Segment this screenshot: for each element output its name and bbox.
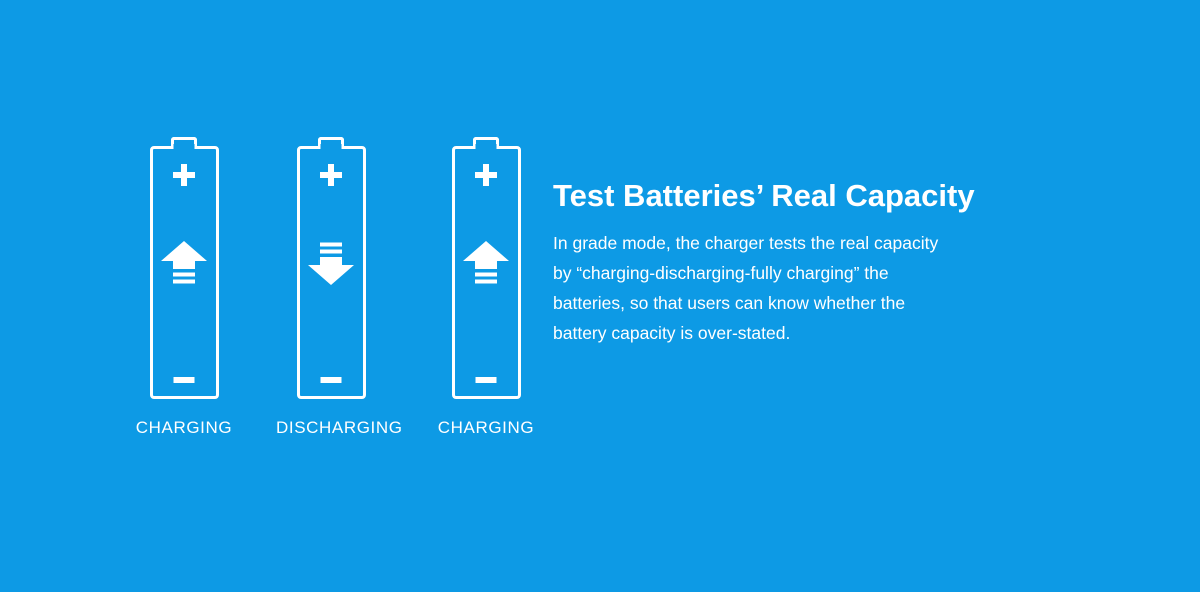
battery-item-charging-2: CHARGING bbox=[431, 137, 541, 438]
battery-cap-notch bbox=[174, 144, 195, 151]
page-title: Test Batteries’ Real Capacity bbox=[553, 178, 1023, 214]
battery-figure bbox=[297, 137, 366, 400]
description-line: battery capacity is over-stated. bbox=[553, 318, 1023, 348]
battery-cap-notch bbox=[321, 144, 342, 151]
battery-caption-label: CHARGING bbox=[431, 418, 541, 438]
arrow-up-icon bbox=[161, 241, 207, 285]
minus-terminal-icon bbox=[476, 377, 497, 383]
minus-terminal-icon bbox=[174, 377, 195, 383]
promo-text-block: Test Batteries’ Real Capacity In grade m… bbox=[553, 178, 1023, 348]
description-paragraph: In grade mode, the charger tests the rea… bbox=[553, 228, 1023, 348]
minus-terminal-icon bbox=[321, 377, 342, 383]
battery-caption-label: DISCHARGING bbox=[276, 418, 386, 438]
battery-caption-label: CHARGING bbox=[129, 418, 239, 438]
battery-cap-notch bbox=[476, 144, 497, 151]
description-line: by “charging-discharging-fully charging”… bbox=[553, 258, 1023, 288]
description-line: batteries, so that users can know whethe… bbox=[553, 288, 1023, 318]
plus-terminal-icon bbox=[320, 164, 342, 186]
battery-figure bbox=[150, 137, 219, 400]
battery-item-discharging: DISCHARGING bbox=[276, 137, 386, 438]
arrow-up-icon bbox=[463, 241, 509, 285]
arrow-down-icon bbox=[308, 241, 354, 285]
plus-terminal-icon bbox=[173, 164, 195, 186]
plus-terminal-icon bbox=[475, 164, 497, 186]
promo-banner: CHARGING DISCHARGING bbox=[0, 0, 1200, 592]
battery-item-charging-1: CHARGING bbox=[129, 137, 239, 438]
battery-figure bbox=[452, 137, 521, 400]
description-line: In grade mode, the charger tests the rea… bbox=[553, 228, 1023, 258]
